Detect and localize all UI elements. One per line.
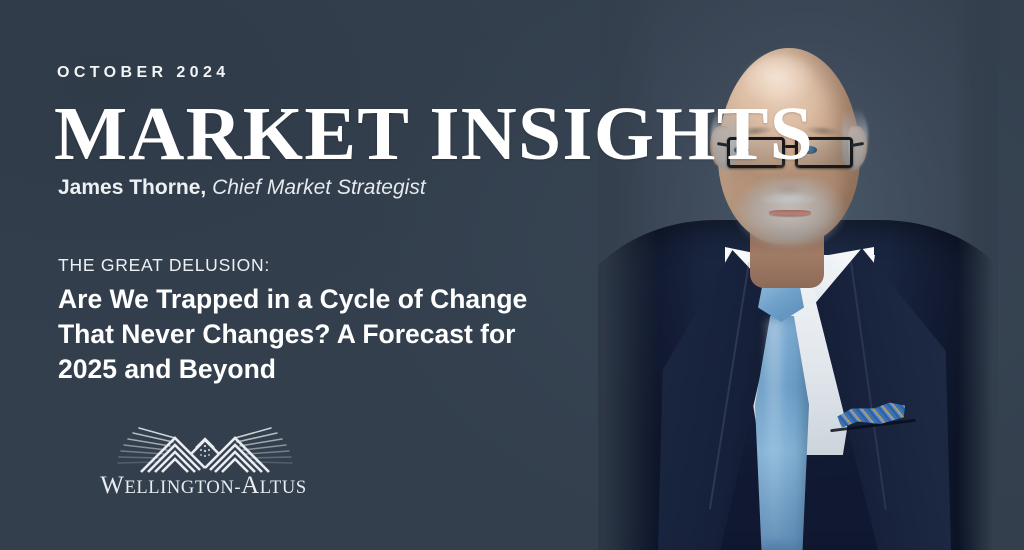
wellington-altus-logo: WELLINGTON-ALTUS bbox=[57, 424, 357, 476]
text-column: OCTOBER 2024 MARKET INSIGHTS James Thorn… bbox=[57, 0, 677, 550]
logo-wordmark: WELLINGTON-ALTUS bbox=[57, 472, 350, 500]
wordmark-part: ELLINGTON bbox=[124, 478, 234, 498]
market-insights-banner: OCTOBER 2024 MARKET INSIGHTS James Thorn… bbox=[0, 0, 1024, 550]
wordmark-part: LTUS bbox=[260, 478, 307, 498]
byline: James Thorne, Chief Market Strategist bbox=[58, 176, 426, 200]
chevron-mark-icon bbox=[107, 424, 303, 476]
wordmark-part: W bbox=[100, 472, 124, 499]
moustache bbox=[760, 192, 818, 206]
headline-line: That Never Changes? A Forecast for bbox=[58, 317, 658, 352]
headline-line: 2025 and Beyond bbox=[58, 352, 658, 387]
issue-date: OCTOBER 2024 bbox=[57, 64, 230, 82]
eyeglass-temple-right bbox=[851, 142, 864, 148]
necktie-sheen bbox=[766, 320, 782, 540]
author-role: Chief Market Strategist bbox=[212, 176, 426, 199]
wordmark-part: A bbox=[241, 472, 260, 499]
article-headline: Are We Trapped in a Cycle of Change That… bbox=[58, 282, 658, 387]
chin-shadow bbox=[750, 228, 830, 246]
headline-line: Are We Trapped in a Cycle of Change bbox=[58, 282, 658, 317]
mouth bbox=[769, 210, 811, 216]
author-name: James Thorne, bbox=[58, 176, 206, 199]
article-kicker: THE GREAT DELUSION: bbox=[58, 255, 270, 276]
page-title: MARKET INSIGHTS bbox=[54, 96, 814, 172]
